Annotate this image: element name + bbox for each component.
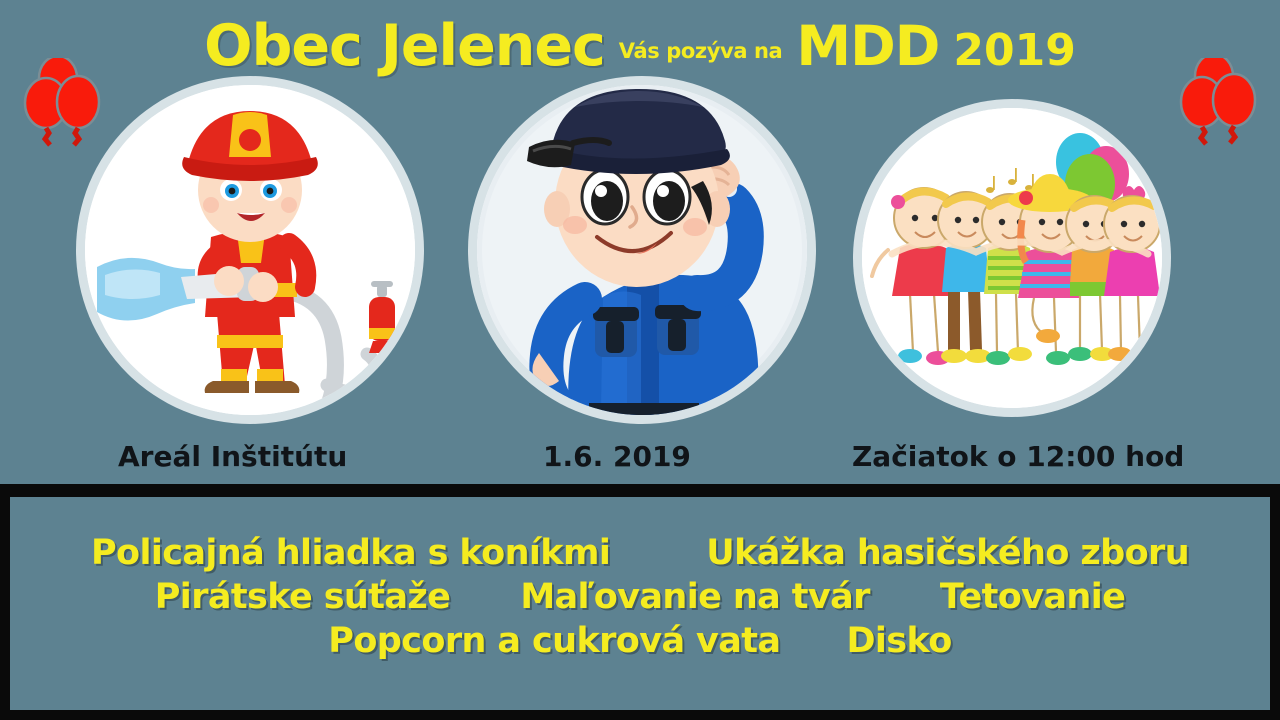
activity-item: Ukážka hasičského zboru xyxy=(706,533,1189,573)
activity-item: Maľovanie na tvár xyxy=(520,577,870,617)
activities-row-3: Popcorn a cukrová vata Disko xyxy=(10,621,1270,661)
activities-row-1: Policajná hliadka s koníkmi Ukážka hasič… xyxy=(10,533,1270,573)
balloons-icon-right xyxy=(1172,58,1262,168)
children-illustration xyxy=(862,108,1162,408)
activity-item: Policajná hliadka s koníkmi xyxy=(91,533,610,573)
policeman-illustration xyxy=(477,85,807,415)
activity-item: Pirátske súťaže xyxy=(155,577,451,617)
activities-inner: Policajná hliadka s koníkmi Ukážka hasič… xyxy=(10,497,1270,710)
invitation-text: Vás pozýva na xyxy=(619,39,783,63)
organizer-title: Obec Jelenec xyxy=(204,13,605,79)
activity-item: Disko xyxy=(846,621,951,661)
event-year: 2019 xyxy=(953,25,1075,76)
time-caption: Začiatok o 12:00 hod xyxy=(852,440,1184,473)
venue-caption: Areál Inštitútu xyxy=(118,440,347,473)
activities-row-2: Pirátske súťaže Maľovanie na tvár Tetova… xyxy=(10,577,1270,617)
activity-item: Tetovanie xyxy=(940,577,1125,617)
activity-item: Popcorn a cukrová vata xyxy=(328,621,780,661)
poster-header: Obec Jelenec Vás pozýva na MDD 2019 xyxy=(0,8,1280,84)
event-name: MDD xyxy=(796,14,939,78)
firefighter-illustration xyxy=(85,85,415,415)
date-caption: 1.6. 2019 xyxy=(543,440,691,473)
activities-panel: Policajná hliadka s koníkmi Ukážka hasič… xyxy=(0,484,1280,720)
balloons-icon-left xyxy=(18,58,108,168)
event-poster: Obec Jelenec Vás pozýva na MDD 2019 xyxy=(0,0,1280,720)
caption-row: Areál Inštitútu 1.6. 2019 Začiatok o 12:… xyxy=(0,440,1280,482)
